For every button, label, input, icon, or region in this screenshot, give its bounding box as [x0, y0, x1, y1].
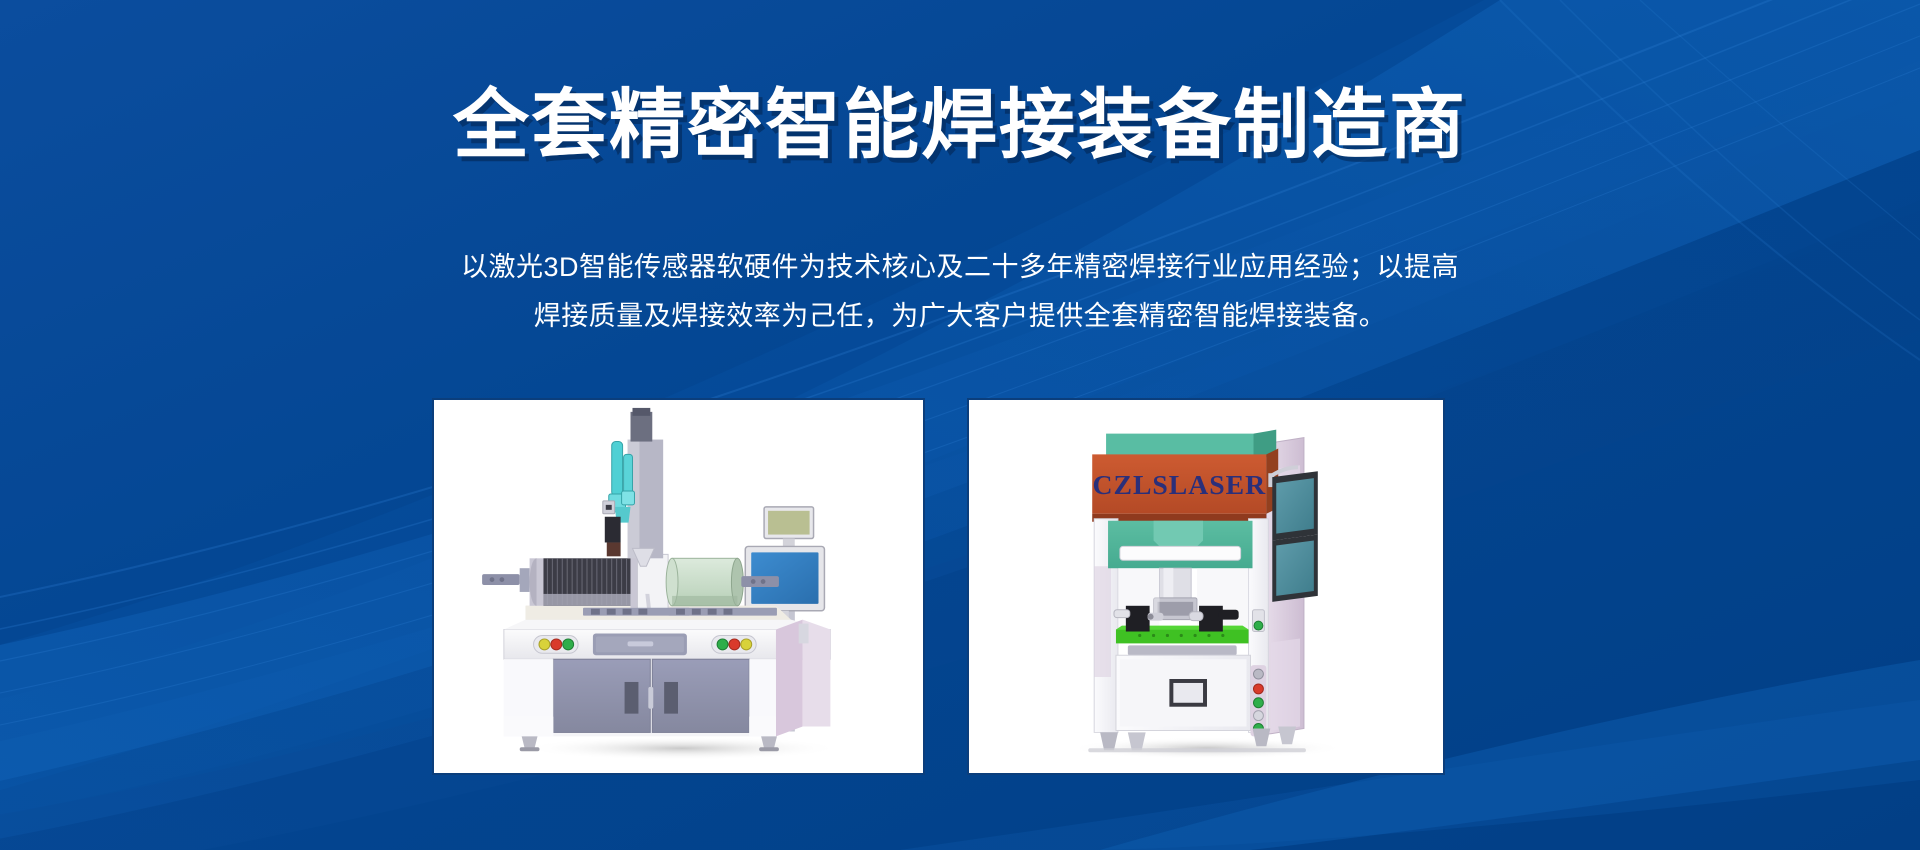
brand-label: CZLSLASER — [1093, 469, 1267, 500]
monitor-upper — [1272, 471, 1318, 540]
precision-welding-workstation-illustration — [434, 400, 923, 773]
hero-banner: 全套精密智能焊接装备制造商 以激光3D智能传感器软硬件为技术核心及二十多年精密焊… — [0, 0, 1920, 850]
product-image-panel-left[interactable] — [432, 398, 925, 775]
page-subtitle-line-2: 焊接质量及焊接效率为己任，为广大客户提供全套精密智能焊接装备。 — [400, 292, 1520, 341]
monitor-lower — [1272, 535, 1318, 602]
page-subtitle-line-1: 以激光3D智能传感器软硬件为技术核心及二十多年精密焊接行业应用经验；以提高 — [400, 243, 1520, 292]
page-title: 全套精密智能焊接装备制造商 — [0, 78, 1920, 174]
page-subtitle: 以激光3D智能传感器软硬件为技术核心及二十多年精密焊接行业应用经验；以提高 焊接… — [400, 243, 1520, 341]
product-image-panel-right[interactable]: CZLSLASER — [967, 398, 1445, 775]
czls-laser-welding-cabinet-illustration: CZLSLASER — [969, 400, 1443, 773]
